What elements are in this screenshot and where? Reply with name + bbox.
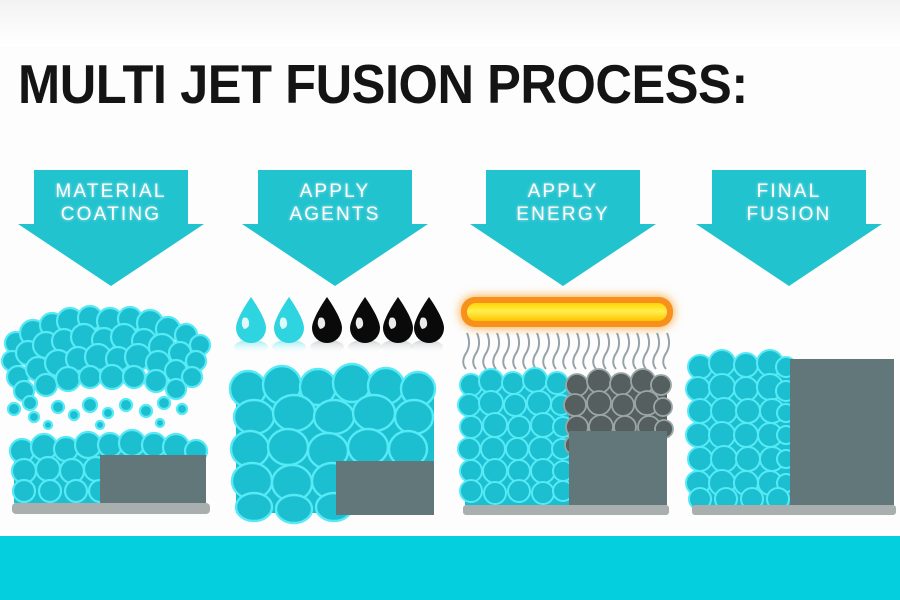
footer-band: [0, 536, 900, 600]
droplet-reflections: [234, 340, 443, 354]
page-title: MULTI JET FUSION PROCESS:: [18, 55, 748, 113]
powder-bed-unfused: [458, 368, 573, 505]
step-arrow-1[interactable]: MATERIAL COATING: [16, 168, 206, 288]
droplet-6: [414, 297, 444, 343]
loose-powder-cloud: [2, 306, 210, 429]
droplet-4: [350, 297, 380, 343]
base-platform: [692, 505, 896, 515]
step-arrow-4[interactable]: FINAL FUSION: [694, 168, 884, 288]
top-gradient-wash: [0, 0, 900, 46]
fused-block: [336, 461, 434, 515]
step-illustration-1: Fused: [0, 285, 220, 525]
step-illustration-2: Fused: [228, 285, 448, 525]
base-platform: [463, 505, 669, 515]
droplet-2: [274, 297, 304, 343]
fused-block: [100, 455, 206, 505]
base-platform: [12, 503, 210, 514]
step-illustration-3: Fused: [455, 285, 675, 525]
fused-block: [569, 431, 667, 505]
step-arrow-3[interactable]: APPLY ENERGY: [468, 168, 658, 288]
droplet-3: [312, 297, 342, 343]
droplet-5: [383, 297, 413, 343]
step-illustration-4: Fused: [680, 285, 900, 525]
multi-jet-fusion-infographic: MULTI JET FUSION PROCESS: MATERIAL COATI…: [0, 0, 900, 600]
energy-rays: [463, 333, 669, 369]
fused-block: [790, 359, 894, 505]
droplet-1: [236, 297, 266, 343]
energy-lamp: [461, 297, 673, 327]
powder-bed: [686, 350, 796, 510]
step-arrow-2[interactable]: APPLY AGENTS: [240, 168, 430, 288]
